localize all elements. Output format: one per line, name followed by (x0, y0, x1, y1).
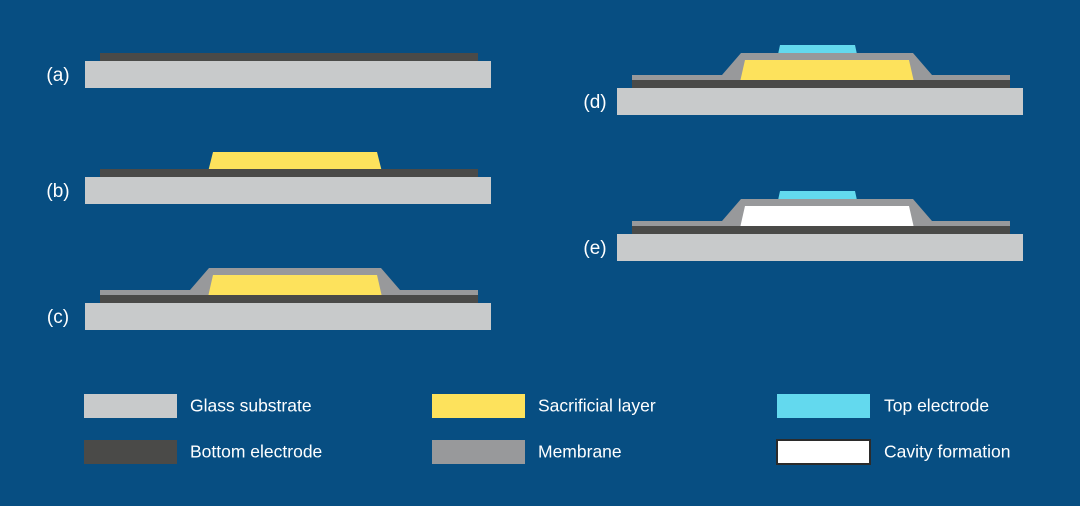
panel-c-glass-substrate (85, 303, 491, 330)
legend-item-cavity-formation: Cavity formation (777, 440, 1010, 464)
legend-swatch-cavity-formation (777, 440, 870, 464)
legend-swatch-glass-substrate (84, 394, 177, 418)
panel-e-cavity-formation (740, 206, 914, 228)
panel-d-glass-substrate (617, 88, 1023, 115)
legend-label-sacrificial-layer: Sacrificial layer (538, 396, 656, 416)
panel-b-label: (b) (46, 181, 69, 202)
panel-e-glass-substrate (617, 234, 1023, 261)
panel-c-sacrificial-layer (208, 275, 382, 297)
legend-swatch-sacrificial-layer (432, 394, 525, 418)
panel-b-glass-substrate (85, 177, 491, 204)
panel-c-label: (c) (47, 307, 69, 328)
panel-a: (a) (46, 53, 491, 88)
panel-a-bottom-electrode (100, 53, 478, 61)
legend-label-top-electrode: Top electrode (884, 396, 989, 416)
legend-label-glass-substrate: Glass substrate (190, 396, 312, 416)
legend-item-sacrificial-layer: Sacrificial layer (432, 394, 656, 418)
panel-d-label: (d) (583, 92, 606, 113)
legend-label-cavity-formation: Cavity formation (884, 442, 1010, 462)
legend-swatch-bottom-electrode (84, 440, 177, 464)
legend-item-top-electrode: Top electrode (777, 394, 989, 418)
legend-label-membrane: Membrane (538, 442, 622, 462)
panel-b-bottom-electrode (100, 169, 478, 177)
fabrication-process-diagram: (a) (b) (c) (d) (e) (0, 0, 1080, 506)
panel-e-label: (e) (583, 238, 606, 259)
panel-a-label: (a) (46, 65, 69, 86)
legend-swatch-top-electrode (777, 394, 870, 418)
legend-swatch-membrane (432, 440, 525, 464)
panel-c-bottom-electrode (100, 295, 478, 303)
legend-label-bottom-electrode: Bottom electrode (190, 442, 322, 462)
panel-e-bottom-electrode (632, 226, 1010, 234)
panel-d-bottom-electrode (632, 80, 1010, 88)
legend-item-bottom-electrode: Bottom electrode (84, 440, 322, 464)
panel-a-glass-substrate (85, 61, 491, 88)
legend-item-glass-substrate: Glass substrate (84, 394, 312, 418)
panel-d-sacrificial-layer (740, 60, 914, 82)
